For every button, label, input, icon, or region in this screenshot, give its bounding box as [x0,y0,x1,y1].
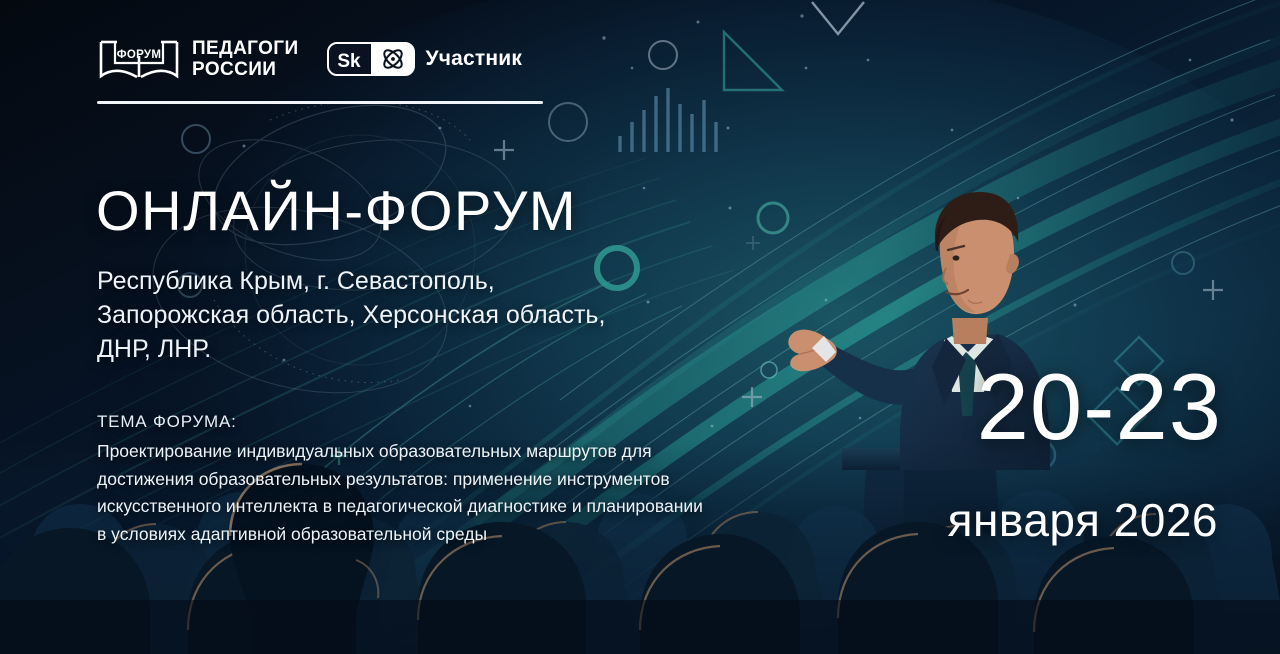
theme-label: ТЕМА ФОРУМА: [97,412,237,432]
theme-description: Проектирование индивидуальных образовате… [97,438,827,548]
region-line-2: Запорожская область, Херсонская область, [97,298,605,332]
org-line-1: ПЕДАГОГИ [192,38,299,59]
regions-list: Республика Крым, г. Севастополь, Запорож… [97,264,605,366]
open-book-icon: ФОРУМ [97,36,181,82]
event-date-range: 20-23 [977,360,1222,454]
brand-header: ФОРУМ ПЕДАГОГИ РОССИИ Sk [97,36,522,82]
region-line-3: ДНР, ЛНР. [97,332,605,366]
theme-line-4: в условиях адаптивной образовательной ср… [97,521,827,549]
skolkovo-logo: Sk [327,42,415,76]
skolkovo-participant-badge[interactable]: Sk Участник [327,42,523,76]
svg-text:ФОРУМ: ФОРУМ [117,49,162,61]
org-name: ПЕДАГОГИ РОССИИ [192,38,299,80]
theme-line-1: Проектирование индивидуальных образовате… [97,438,827,466]
svg-text:Sk: Sk [337,51,361,72]
theme-line-2: достижения образовательных результатов: … [97,466,827,494]
event-month-year: января 2026 [948,496,1218,544]
header-divider [97,101,543,104]
forum-poster: ФОРУМ ПЕДАГОГИ РОССИИ Sk [0,0,1280,654]
theme-line-3: искусственного интеллекта в педагогическ… [97,493,827,521]
org-line-2: РОССИИ [192,59,299,80]
forum-logo[interactable]: ФОРУМ ПЕДАГОГИ РОССИИ [97,36,299,82]
page-title: ОНЛАЙН-ФОРУМ [96,178,577,243]
region-line-1: Республика Крым, г. Севастополь, [97,264,605,298]
participant-label: Участник [426,47,523,71]
